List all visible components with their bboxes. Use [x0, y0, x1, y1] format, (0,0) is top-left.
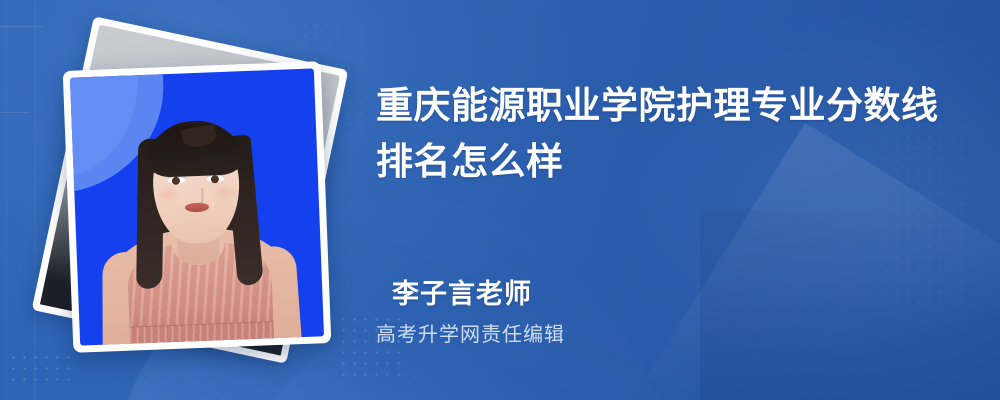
- photo-card-front: [63, 61, 332, 353]
- accent-line-left: [0, 112, 30, 113]
- arm-left: [102, 252, 130, 345]
- portrait-photo: [70, 68, 324, 345]
- pupil-left: [172, 176, 180, 184]
- page-title: 重庆能源职业学院护理专业分数线排名怎么样: [376, 78, 964, 190]
- author-role: 高考升学网责任编辑: [376, 318, 565, 347]
- photo-card-stack: [40, 30, 350, 370]
- author-name: 李子言老师: [392, 272, 532, 311]
- accent-line-top-left: [0, 26, 44, 27]
- garment-waistband: [130, 321, 275, 345]
- portrait-figure: [70, 68, 324, 345]
- banner-image: 重庆能源职业学院护理专业分数线排名怎么样 李子言老师 高考升学网责任编辑: [0, 0, 1000, 400]
- pupil-right: [211, 175, 219, 183]
